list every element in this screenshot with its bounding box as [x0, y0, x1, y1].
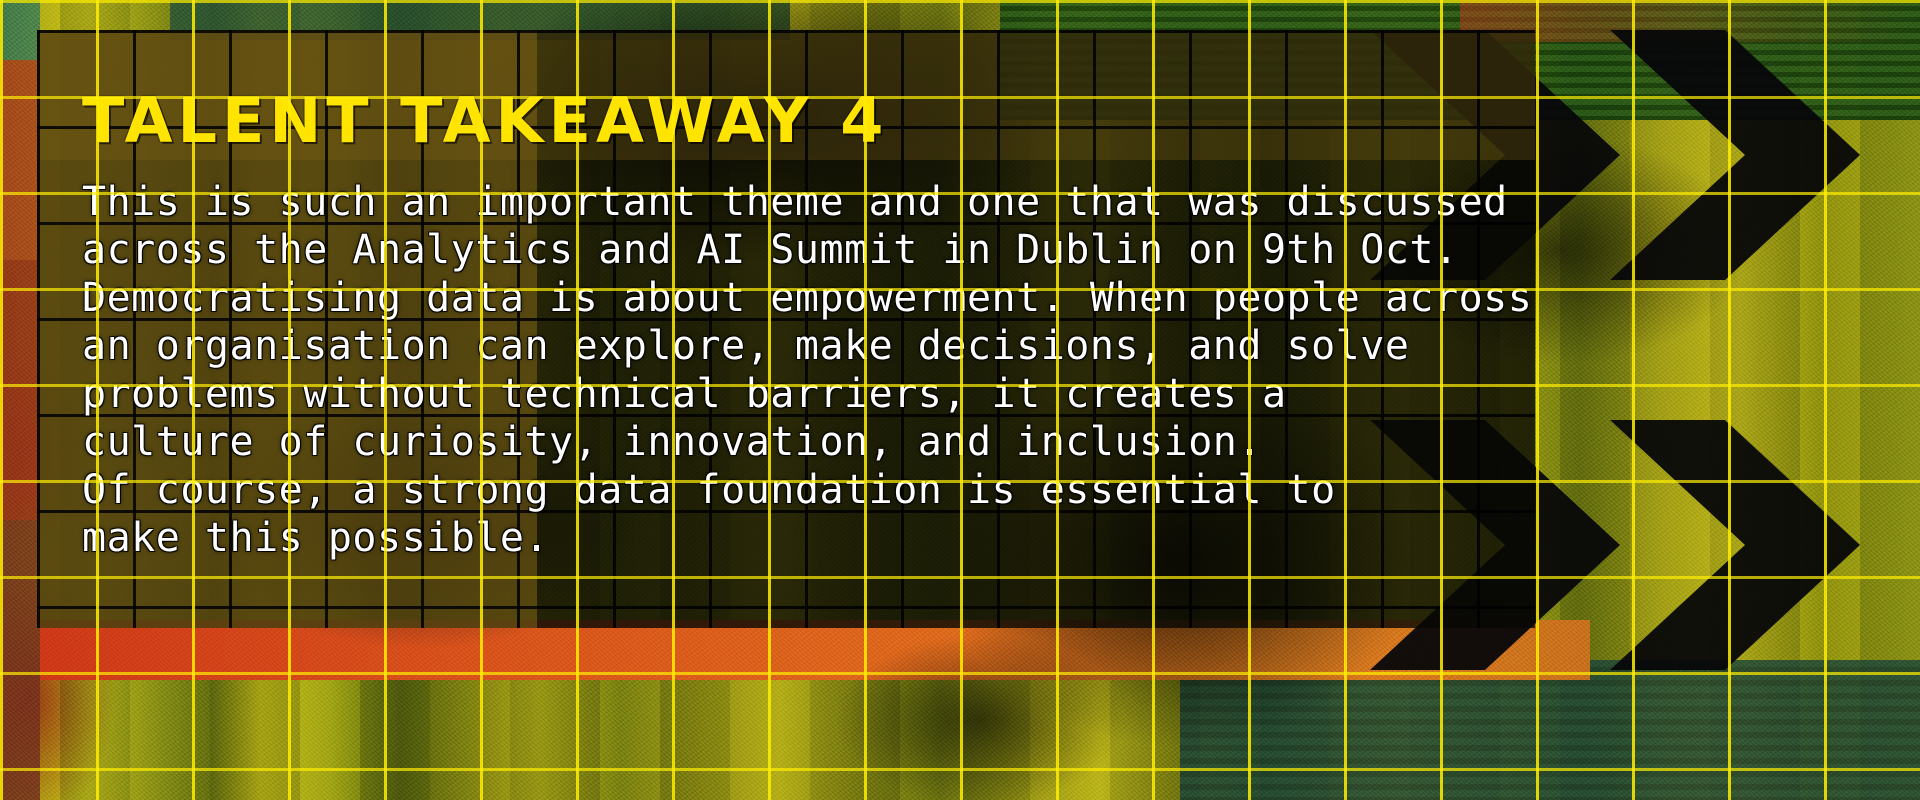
chevron-arrow-icon	[1610, 420, 1860, 670]
body-line: Democratising data is about empowerment.…	[82, 274, 1515, 322]
graphic-canvas: TALENT TAKEAWAY 4 This is such an import…	[0, 0, 1920, 800]
page-title: TALENT TAKEAWAY 4	[82, 90, 1515, 152]
body-line: problems without technical barriers, it …	[82, 370, 1515, 418]
body-paragraph: This is such an important theme and one …	[82, 178, 1515, 562]
body-line: This is such an important theme and one …	[82, 178, 1515, 226]
content-card-panel: TALENT TAKEAWAY 4 This is such an import…	[37, 30, 1535, 628]
body-line: an organisation can explore, make decisi…	[82, 322, 1515, 370]
chevron-arrow-icon	[1610, 30, 1860, 280]
body-line: across the Analytics and AI Summit in Du…	[82, 226, 1515, 274]
body-line: culture of curiosity, innovation, and in…	[82, 418, 1515, 466]
body-line: Of course, a strong data foundation is e…	[82, 466, 1515, 514]
card-content: TALENT TAKEAWAY 4 This is such an import…	[82, 90, 1515, 562]
body-line: make this possible.	[82, 514, 1515, 562]
